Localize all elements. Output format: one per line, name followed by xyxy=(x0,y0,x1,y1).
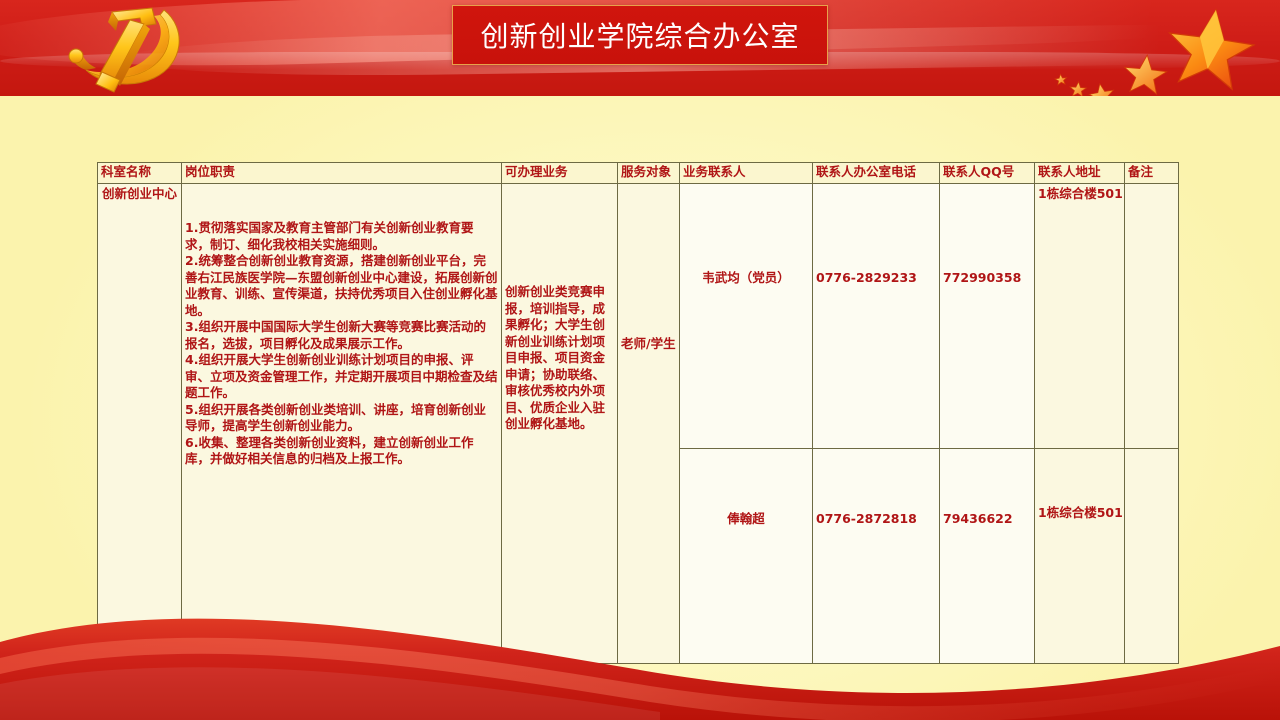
table-row: 创新创业中心 1.贯彻落实国家及教育主管部门有关创新创业教育要求，制订、细化我校… xyxy=(98,184,1179,449)
cell-contact-address: 1栋综合楼501 xyxy=(1035,184,1125,449)
party-emblem-icon xyxy=(56,2,216,94)
column-header-phone: 联系人办公室电话 xyxy=(813,163,940,184)
stars-decoration-icon xyxy=(1050,0,1280,96)
cell-note xyxy=(1125,184,1179,449)
cell-contact-qq: 772990358 xyxy=(940,184,1035,449)
column-header-note: 备注 xyxy=(1125,163,1179,184)
page-title: 创新创业学院综合办公室 xyxy=(480,15,799,55)
column-header-services: 可办理业务 xyxy=(502,163,618,184)
column-header-department: 科室名称 xyxy=(98,163,182,184)
column-header-address: 联系人地址 xyxy=(1035,163,1125,184)
column-header-qq: 联系人QQ号 xyxy=(940,163,1035,184)
page-title-plate: 创新创业学院综合办公室 xyxy=(452,5,828,65)
bottom-wave-decoration xyxy=(0,580,1280,720)
cell-contact-phone: 0776-2829233 xyxy=(813,184,940,449)
table-header-row: 科室名称 岗位职责 可办理业务 服务对象 业务联系人 联系人办公室电话 联系人Q… xyxy=(98,163,1179,184)
column-header-duties: 岗位职责 xyxy=(182,163,502,184)
column-header-target: 服务对象 xyxy=(618,163,680,184)
cell-contact-name: 韦武均（党员） xyxy=(680,184,813,449)
column-header-contact: 业务联系人 xyxy=(680,163,813,184)
